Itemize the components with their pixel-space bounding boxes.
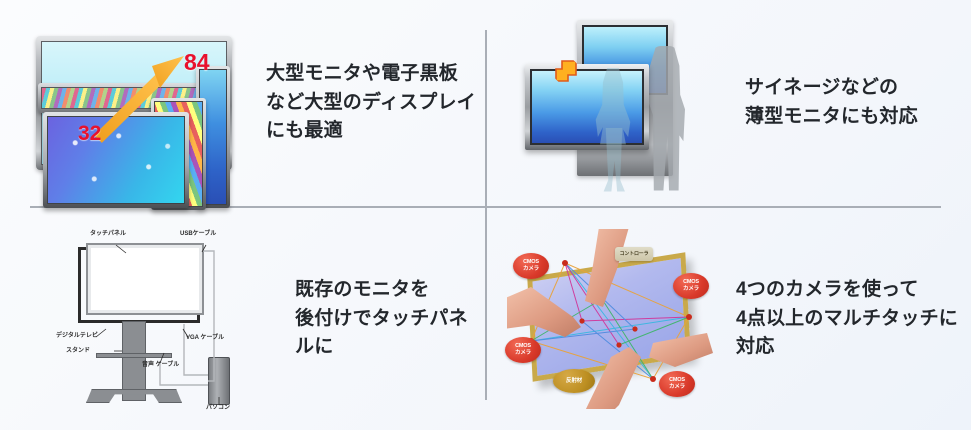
panel-signage: サイネージなどの 薄型モニタにも対応 (487, 0, 971, 206)
label-digital-tv: デジタルテレビ (56, 333, 98, 341)
size-label-32: 32 (78, 122, 101, 146)
panel-large-display: 32 84 大型モニタや電子黒板 など大型のディスプレイ にも最適 (0, 0, 485, 206)
diagram-wires (56, 229, 271, 409)
label-pc: パソコン (206, 405, 230, 413)
label-usb-cable: USBケーブル (180, 231, 216, 239)
tv-stand-wiring-diagram-illustration: タッチパネル USBケーブル デジタルテレビ スタンド VGA ケーブル 音声 … (56, 229, 271, 409)
label-touch-panel: タッチパネル (90, 231, 126, 239)
feature-grid: 32 84 大型モニタや電子黒板 など大型のディスプレイ にも最適 サイネージな… (0, 0, 971, 430)
panel-multitouch: CMOS カメラ CMOS カメラ CMOS カメラ CMOS カメラ コントロ… (487, 208, 971, 430)
size-label-84: 84 (184, 49, 210, 76)
bubble-controller: コントローラ (615, 247, 653, 261)
bubble-cmos-camera-left: CMOS カメラ (505, 337, 541, 363)
bubble-cmos-camera-top-left: CMOS カメラ (513, 253, 549, 279)
stacked-monitors-with-growth-arrow-illustration: 32 84 (36, 36, 232, 170)
label-stand: スタンド (66, 348, 90, 356)
bubble-cmos-camera-right: CMOS カメラ (673, 273, 709, 299)
panel-multitouch-caption: 4つのカメラを使って 4点以上のマルチタッチに対応 (736, 276, 971, 363)
panel-signage-caption: サイネージなどの 薄型モニタにも対応 (745, 74, 918, 132)
panel-retrofit: タッチパネル USBケーブル デジタルテレビ スタンド VGA ケーブル 音声 … (0, 208, 485, 430)
panel-retrofit-caption: 既存のモニタを 後付けでタッチパネルに (295, 276, 485, 363)
panel-large-display-caption: 大型モニタや電子黒板 など大型のディスプレイ にも最適 (266, 60, 476, 147)
signage-monitor-with-people-illustration (517, 16, 707, 191)
label-audio-cable: 音声 ケーブル (142, 362, 179, 370)
signage-front-monitor (525, 64, 649, 150)
bubble-cmos-camera-bottom: CMOS カメラ (659, 371, 695, 397)
four-camera-multitouch-panel-illustration: CMOS カメラ CMOS カメラ CMOS カメラ CMOS カメラ コントロ… (507, 229, 722, 409)
label-vga-cable: VGA ケーブル (186, 335, 224, 343)
bubble-reflector: 反射材 (553, 369, 595, 393)
